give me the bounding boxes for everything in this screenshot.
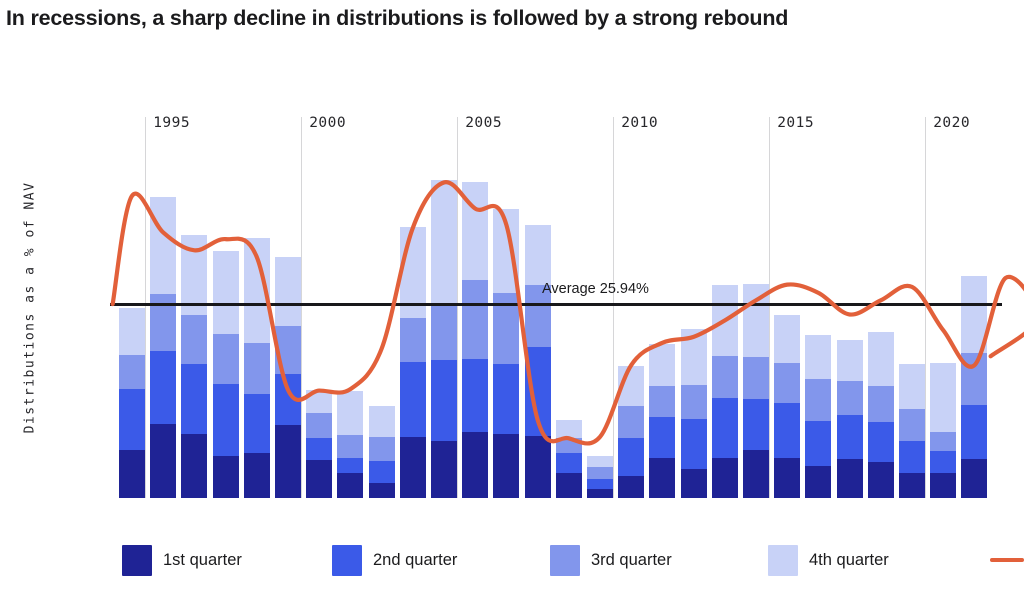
bar-segment-3rd-quarter (837, 381, 863, 415)
legend-label: 1st quarter (163, 551, 242, 570)
bar-segment-1st-quarter (431, 441, 457, 498)
gridline-2005 (457, 117, 458, 498)
bar-2008[interactable] (556, 420, 582, 498)
x-tick-label-2020: 2020 (933, 115, 970, 131)
bar-segment-2nd-quarter (493, 364, 519, 434)
bar-segment-4th-quarter (556, 420, 582, 439)
bar-segment-2nd-quarter (400, 362, 426, 437)
bar-segment-4th-quarter (961, 276, 987, 353)
legend-line-icon (990, 558, 1024, 562)
bar-segment-4th-quarter (337, 391, 363, 436)
gridline-2010 (613, 117, 614, 498)
bar-segment-1st-quarter (961, 459, 987, 498)
bar-segment-2nd-quarter (213, 384, 239, 456)
x-tick-label-2005: 2005 (465, 115, 502, 131)
bar-segment-4th-quarter (649, 344, 675, 387)
gridline-2000 (301, 117, 302, 498)
bar-segment-2nd-quarter (150, 351, 176, 424)
bar-2014[interactable] (743, 284, 769, 498)
bar-segment-2nd-quarter (431, 360, 457, 441)
bar-segment-1st-quarter (181, 434, 207, 498)
bar-segment-2nd-quarter (587, 479, 613, 489)
bar-1997[interactable] (213, 251, 239, 498)
gridline-2020 (925, 117, 926, 498)
plot-area: 0.0010.0020.0030.0040.0050.00 1995200020… (110, 125, 1008, 498)
bar-segment-3rd-quarter (681, 385, 707, 419)
bar-2003[interactable] (400, 226, 426, 498)
legend-item-1st-quarter[interactable]: 1st quarter (122, 540, 242, 580)
bar-segment-3rd-quarter (119, 355, 145, 389)
gridline-2015 (769, 117, 770, 498)
legend-swatch-icon (332, 545, 362, 576)
bar-2021[interactable] (961, 276, 987, 498)
chart-legend: 1st quarter2nd quarter3rd quarter4th qua… (110, 540, 1010, 582)
bar-segment-4th-quarter (306, 390, 332, 413)
bar-segment-1st-quarter (837, 459, 863, 498)
bar-segment-1st-quarter (587, 489, 613, 498)
bar-segment-2nd-quarter (899, 441, 925, 474)
bar-segment-2nd-quarter (462, 359, 488, 433)
bar-2018[interactable] (868, 332, 894, 498)
chart-root: In recessions, a sharp decline in distri… (0, 0, 1024, 597)
bar-1995[interactable] (150, 197, 176, 498)
bar-segment-4th-quarter (213, 251, 239, 334)
legend-item-4th-quarter[interactable]: 4th quarter (768, 540, 889, 580)
average-line (110, 303, 1002, 306)
bar-segment-3rd-quarter (961, 353, 987, 405)
bar-segment-3rd-quarter (462, 280, 488, 358)
bar-segment-3rd-quarter (743, 357, 769, 399)
bar-segment-1st-quarter (119, 450, 145, 498)
bar-segment-2nd-quarter (649, 417, 675, 458)
bar-segment-4th-quarter (618, 366, 644, 406)
bar-segment-1st-quarter (369, 483, 395, 498)
bar-segment-2nd-quarter (181, 364, 207, 434)
bar-segment-2nd-quarter (961, 405, 987, 459)
bar-segment-3rd-quarter (213, 334, 239, 384)
bar-segment-1st-quarter (899, 473, 925, 498)
bar-segment-1st-quarter (400, 437, 426, 498)
y-axis-title: Distributions as a % of NAV (23, 178, 38, 438)
bar-2015[interactable] (774, 315, 800, 498)
bar-segment-3rd-quarter (868, 386, 894, 422)
bar-segment-2nd-quarter (618, 438, 644, 476)
bar-segment-3rd-quarter (400, 318, 426, 361)
bar-segment-3rd-quarter (306, 413, 332, 438)
legend-item-annual-pace[interactable]: Annual pace (990, 540, 1024, 580)
bar-1996[interactable] (181, 235, 207, 498)
bar-segment-1st-quarter (743, 450, 769, 498)
bar-segment-3rd-quarter (774, 363, 800, 403)
bar-segment-3rd-quarter (805, 379, 831, 421)
bar-segment-2nd-quarter (681, 419, 707, 469)
bar-segment-3rd-quarter (618, 406, 644, 438)
bar-1998[interactable] (244, 238, 270, 498)
bar-segment-1st-quarter (150, 424, 176, 498)
bar-segment-1st-quarter (618, 476, 644, 498)
bar-segment-3rd-quarter (587, 467, 613, 479)
bar-segment-1st-quarter (868, 462, 894, 498)
bar-segment-2nd-quarter (805, 421, 831, 466)
bar-segment-4th-quarter (681, 329, 707, 384)
bar-segment-2nd-quarter (930, 451, 956, 473)
bar-segment-2nd-quarter (774, 403, 800, 457)
bar-segment-2nd-quarter (556, 453, 582, 472)
x-tick-label-2000: 2000 (309, 115, 346, 131)
bar-segment-1st-quarter (244, 453, 270, 498)
gridline-1995 (145, 117, 146, 498)
bar-segment-3rd-quarter (275, 326, 301, 374)
bar-segment-1st-quarter (930, 473, 956, 498)
bar-2010[interactable] (618, 366, 644, 498)
bar-segment-1st-quarter (306, 460, 332, 498)
bar-2007[interactable] (525, 225, 551, 498)
legend-label: 4th quarter (809, 551, 889, 570)
bar-segment-2nd-quarter (868, 422, 894, 462)
bar-segment-1st-quarter (805, 466, 831, 498)
bar-2000[interactable] (306, 390, 332, 498)
legend-swatch-icon (768, 545, 798, 576)
bar-2020[interactable] (930, 363, 956, 498)
bar-segment-2nd-quarter (837, 415, 863, 459)
legend-item-2nd-quarter[interactable]: 2nd quarter (332, 540, 457, 580)
bar-segment-4th-quarter (525, 225, 551, 285)
bar-segment-3rd-quarter (369, 437, 395, 462)
bar-2019[interactable] (899, 364, 925, 498)
bar-segment-1st-quarter (556, 473, 582, 498)
bar-segment-1st-quarter (462, 432, 488, 498)
bar-2004[interactable] (431, 180, 457, 498)
bar-segment-1st-quarter (681, 469, 707, 498)
bar-segment-2nd-quarter (337, 458, 363, 473)
bar-segment-3rd-quarter (930, 432, 956, 451)
bar-segment-4th-quarter (899, 364, 925, 409)
legend-label: 3rd quarter (591, 551, 672, 570)
bar-2009[interactable] (587, 455, 613, 498)
bar-segment-3rd-quarter (181, 315, 207, 364)
bar-segment-4th-quarter (493, 209, 519, 293)
x-tick-label-2015: 2015 (777, 115, 814, 131)
bar-segment-2nd-quarter (119, 389, 145, 450)
bar-segment-1st-quarter (649, 458, 675, 498)
bar-1994[interactable] (119, 308, 145, 498)
bar-segment-4th-quarter (119, 308, 145, 355)
bar-segment-3rd-quarter (556, 438, 582, 453)
bar-segment-1st-quarter (774, 458, 800, 498)
legend-label: 2nd quarter (373, 551, 457, 570)
bar-segment-2nd-quarter (275, 374, 301, 425)
bar-segment-4th-quarter (587, 456, 613, 467)
bar-segment-3rd-quarter (899, 409, 925, 441)
bar-segment-1st-quarter (712, 458, 738, 498)
bar-segment-2nd-quarter (743, 399, 769, 450)
bar-segment-4th-quarter (369, 406, 395, 437)
bar-segment-1st-quarter (213, 456, 239, 498)
bar-segment-4th-quarter (275, 257, 301, 326)
bar-segment-3rd-quarter (649, 386, 675, 417)
bar-2012[interactable] (681, 329, 707, 498)
bar-segment-4th-quarter (462, 182, 488, 280)
bar-segment-3rd-quarter (244, 343, 270, 394)
legend-swatch-icon (550, 545, 580, 576)
bar-2006[interactable] (493, 209, 519, 498)
bar-segment-2nd-quarter (369, 461, 395, 483)
bar-segment-2nd-quarter (306, 438, 332, 460)
chart-title: In recessions, a sharp decline in distri… (6, 6, 788, 31)
bar-2005[interactable] (462, 182, 488, 498)
bar-2017[interactable] (837, 340, 863, 498)
bar-2002[interactable] (369, 406, 395, 498)
bar-segment-4th-quarter (868, 332, 894, 386)
bar-segment-1st-quarter (337, 473, 363, 498)
bar-segment-4th-quarter (930, 363, 956, 432)
bar-2001[interactable] (337, 391, 363, 498)
bar-segment-4th-quarter (431, 180, 457, 305)
bar-segment-3rd-quarter (431, 305, 457, 360)
bar-2016[interactable] (805, 335, 831, 498)
bar-segment-4th-quarter (837, 340, 863, 381)
x-tick-label-1995: 1995 (153, 115, 190, 131)
bar-segment-2nd-quarter (525, 347, 551, 436)
bar-segment-4th-quarter (150, 197, 176, 293)
bar-segment-4th-quarter (712, 285, 738, 357)
average-line-label: Average 25.94% (542, 281, 649, 297)
bar-segment-4th-quarter (805, 335, 831, 379)
bar-segment-4th-quarter (244, 238, 270, 342)
bar-segment-3rd-quarter (712, 356, 738, 398)
bar-segment-4th-quarter (743, 284, 769, 357)
bar-2013[interactable] (712, 285, 738, 498)
bar-segment-2nd-quarter (712, 398, 738, 458)
bar-segment-4th-quarter (774, 315, 800, 363)
bar-segment-1st-quarter (525, 436, 551, 498)
bar-2011[interactable] (649, 344, 675, 498)
legend-item-3rd-quarter[interactable]: 3rd quarter (550, 540, 672, 580)
bar-segment-1st-quarter (275, 425, 301, 498)
bar-segment-3rd-quarter (337, 435, 363, 458)
bar-1999[interactable] (275, 257, 301, 498)
legend-swatch-icon (122, 545, 152, 576)
x-tick-label-2010: 2010 (621, 115, 658, 131)
bar-segment-2nd-quarter (244, 394, 270, 453)
bar-segment-1st-quarter (493, 434, 519, 498)
